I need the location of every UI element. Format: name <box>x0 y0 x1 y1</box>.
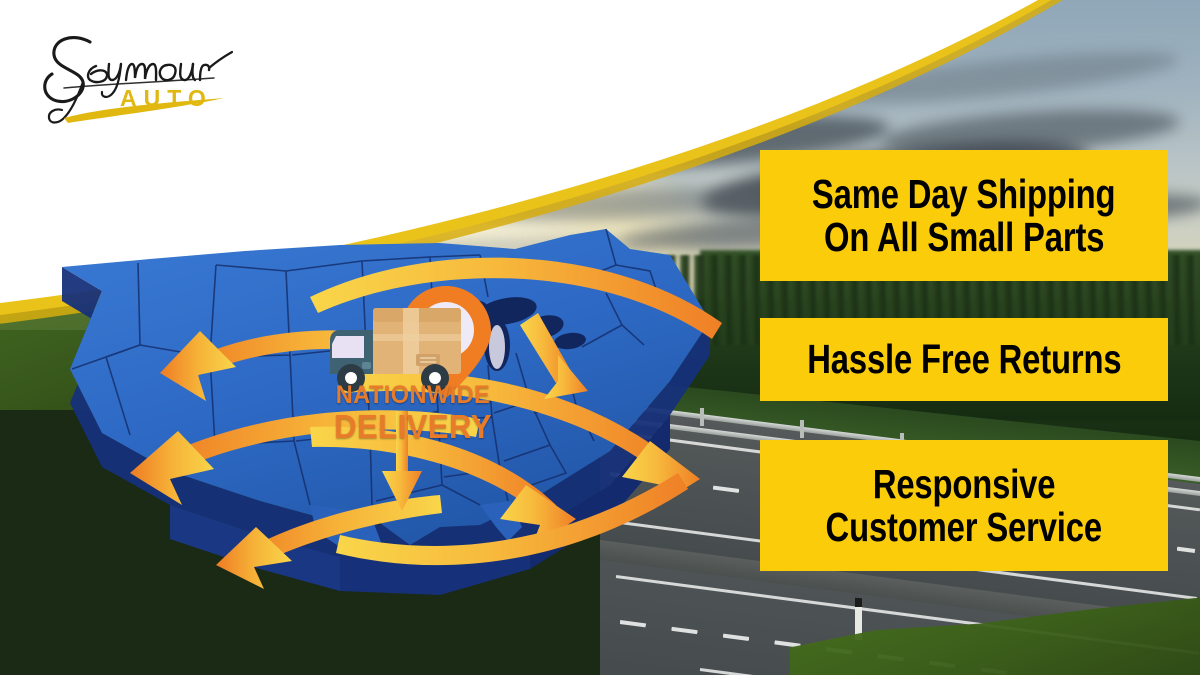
banner-line: Responsive <box>873 463 1056 506</box>
brand-logo[interactable]: AUTO <box>28 22 238 127</box>
feature-banner-hassle-free-returns[interactable]: Hassle Free Returns <box>760 318 1168 401</box>
banner-line: Customer Service <box>826 506 1102 549</box>
banner-line: Hassle Free Returns <box>807 338 1121 381</box>
delivery-truck-icon <box>330 308 461 392</box>
feature-banner-responsive-customer-service[interactable]: Responsive Customer Service <box>760 440 1168 571</box>
nationwide-delivery-badge <box>318 278 518 448</box>
banner-line: Same Day Shipping <box>812 173 1115 216</box>
promo-banner-image: AUTO <box>0 0 1200 675</box>
banner-line: On All Small Parts <box>824 216 1104 259</box>
feature-banner-same-day-shipping[interactable]: Same Day Shipping On All Small Parts <box>760 150 1168 281</box>
